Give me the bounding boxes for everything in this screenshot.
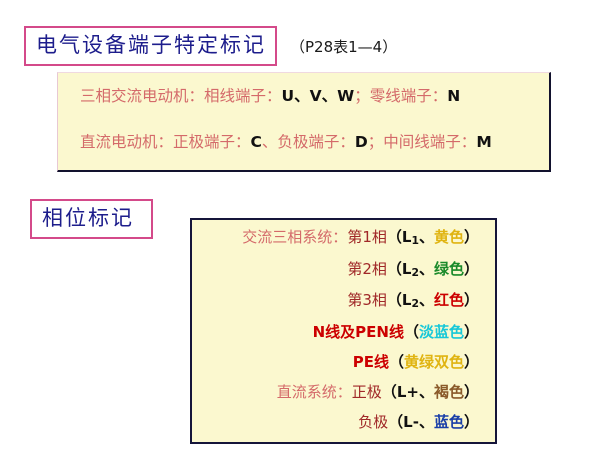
line-label: 交流三相系统： bbox=[242, 228, 347, 246]
phase-name: PE线 bbox=[353, 353, 389, 371]
open-paren: （ bbox=[404, 323, 419, 341]
phase-color-name: 褐色 bbox=[434, 383, 464, 401]
enum-comma: 、 bbox=[419, 291, 434, 309]
phase-marking-panel: 交流三相系统：第1相（L1、黄色） 第2相（L2、绿色） 第3相（L2、红色） … bbox=[190, 218, 497, 444]
phase-name: 负极 bbox=[358, 413, 388, 431]
close-paren: ） bbox=[464, 413, 479, 431]
phase-color-name: 蓝色 bbox=[434, 413, 464, 431]
phase-line-dc-negative: 负极（L-、蓝色） bbox=[192, 415, 479, 430]
segment-text: ；零线端子： bbox=[354, 87, 447, 105]
close-paren: ） bbox=[464, 228, 479, 246]
heading-phase-marking: 相位标记 bbox=[30, 199, 153, 239]
phase-designation: L2 bbox=[402, 291, 419, 309]
close-paren: ） bbox=[464, 291, 479, 309]
phase-color-name: 绿色 bbox=[434, 260, 464, 278]
phase-designation: L- bbox=[403, 413, 419, 431]
enum-comma: 、 bbox=[419, 383, 434, 401]
segment-text: ；中间线端子： bbox=[368, 133, 477, 151]
phase-line-n-and-pen: N线及PEN线（淡蓝色） bbox=[192, 325, 479, 340]
close-paren: ） bbox=[464, 323, 479, 341]
heading-terminal-marking: 电气设备端子特定标记 bbox=[24, 26, 277, 66]
phase-designation: L2 bbox=[402, 260, 419, 278]
phase-color-name: 红色 bbox=[434, 291, 464, 309]
close-paren: ） bbox=[464, 383, 479, 401]
line-label: 直流系统： bbox=[277, 383, 352, 401]
heading-phase-marking-label: 相位标记 bbox=[42, 208, 134, 229]
close-paren: ） bbox=[464, 260, 479, 278]
open-paren: （ bbox=[389, 353, 404, 371]
phase-name: N线及PEN线 bbox=[313, 323, 404, 341]
phase-color-name: 黄绿双色 bbox=[404, 353, 464, 371]
phase-color-name: 淡蓝色 bbox=[419, 323, 464, 341]
phase-designation: L1 bbox=[402, 228, 419, 246]
phase-name: 第2相 bbox=[347, 260, 387, 278]
enum-comma: 、 bbox=[419, 260, 434, 278]
phase-line-pe: PE线（黄绿双色） bbox=[192, 355, 479, 370]
segment-text: U bbox=[282, 87, 295, 105]
caption-table-reference: （P28表1—4） bbox=[290, 36, 397, 57]
segment-text: N bbox=[447, 87, 460, 105]
terminal-line-three-phase-ac-motor: 三相交流电动机：相线端子：U、V、W；零线端子：N bbox=[58, 89, 549, 105]
enum-comma: 、 bbox=[419, 413, 434, 431]
phase-line-ac-three-phase-l2: 第2相（L2、绿色） bbox=[192, 262, 479, 279]
open-paren: （ bbox=[387, 260, 402, 278]
segment-text: 、负极端子： bbox=[262, 133, 355, 151]
phase-name: 第3相 bbox=[347, 291, 387, 309]
terminal-marking-panel: 三相交流电动机：相线端子：U、V、W；零线端子：N 直流电动机：正极端子：C、负… bbox=[57, 72, 551, 172]
phase-designation: L+ bbox=[397, 383, 419, 401]
segment-text: 直流电动机：正极端子： bbox=[80, 133, 251, 151]
open-paren: （ bbox=[387, 228, 402, 246]
segment-text: 三相交流电动机：相线端子： bbox=[80, 87, 282, 105]
phase-line-ac-three-phase-l3: 第3相（L2、红色） bbox=[192, 293, 479, 310]
enum-comma: 、 bbox=[419, 228, 434, 246]
segment-text: M bbox=[476, 133, 491, 151]
close-paren: ） bbox=[464, 353, 479, 371]
segment-text: 、 bbox=[322, 87, 338, 105]
segment-text: W bbox=[337, 87, 354, 105]
segment-text: 、 bbox=[294, 87, 310, 105]
heading-terminal-marking-label: 电气设备端子特定标记 bbox=[36, 35, 266, 56]
terminal-line-dc-motor: 直流电动机：正极端子：C、负极端子：D；中间线端子：M bbox=[58, 135, 549, 151]
segment-text: C bbox=[251, 133, 262, 151]
open-paren: （ bbox=[382, 383, 397, 401]
phase-line-ac-three-phase-l1: 交流三相系统：第1相（L1、黄色） bbox=[192, 230, 479, 247]
phase-line-dc-positive: 直流系统：正极（L+、褐色） bbox=[192, 385, 479, 400]
segment-text: V bbox=[310, 87, 322, 105]
phase-name: 正极 bbox=[352, 383, 382, 401]
segment-text: D bbox=[355, 133, 368, 151]
phase-color-name: 黄色 bbox=[434, 228, 464, 246]
open-paren: （ bbox=[387, 291, 402, 309]
open-paren: （ bbox=[388, 413, 403, 431]
phase-name: 第1相 bbox=[347, 228, 387, 246]
